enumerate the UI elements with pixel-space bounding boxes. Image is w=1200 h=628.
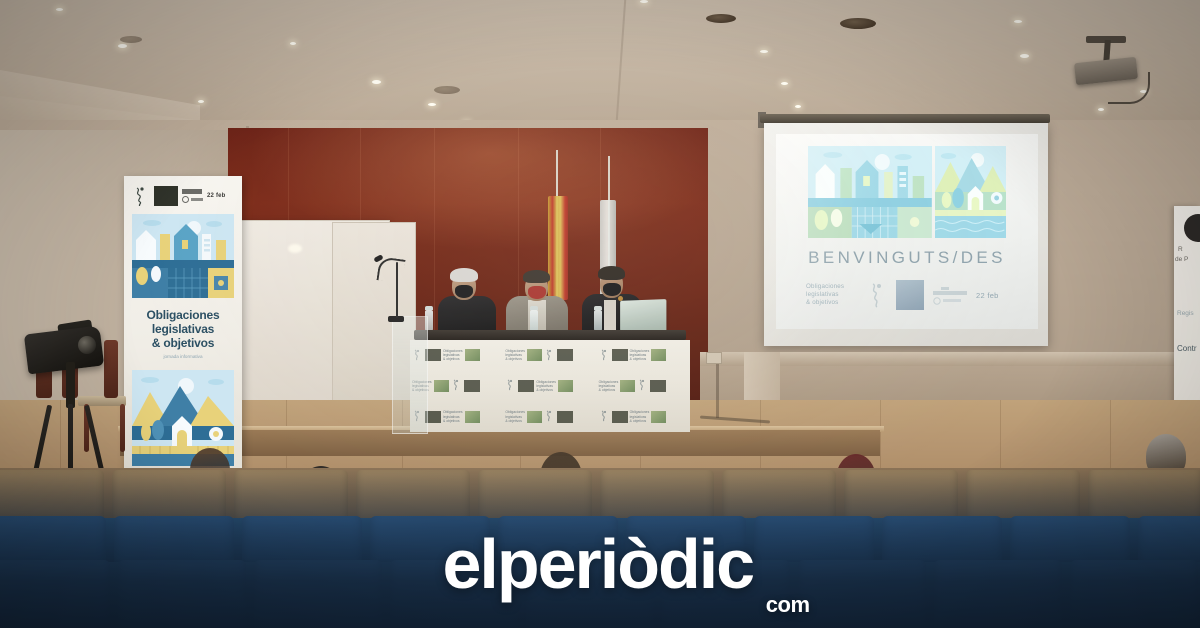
table-banner-tile: Obligacioneslegislativas& objetivos [503,401,596,432]
right-banner-line-3: Regis [1177,310,1194,317]
slide-illustration-mountains [935,146,1006,238]
ceiling-spotlight [760,50,768,53]
bottom-gradient-overlay [0,470,1200,628]
table-banner-text: Obligacioneslegislativas& objetivos [536,380,556,393]
dark-block-logo-icon [650,380,666,392]
bottle-cap [530,306,538,310]
ceiling-spotlight [1020,54,1029,58]
pae-squiggle-logo-icon [599,349,610,362]
bottle-cap [425,306,433,310]
table-banner-text: Obligacioneslegislativas& objetivos [505,410,525,423]
table-banner-text: Obligacioneslegislativas& objetivos [443,410,463,423]
slide-subtitle: Obligaciones legislativas & objetivos [806,283,860,307]
table-banner: Obligacioneslegislativas& objetivosOblig… [410,340,690,432]
photo-canvas: BENVINGUTS/DES Obligaciones legislativas… [0,0,1200,628]
slide-illustration-city [808,146,932,238]
face-mask-icon [603,283,621,296]
bottle-cap [594,306,602,310]
table-banner-text: Obligacioneslegislativas& objetivos [630,410,650,423]
rollup-illustration-top [132,214,234,298]
wall-socket-icon [706,352,722,364]
ceiling-vent-icon [706,14,736,23]
photo-tile [558,380,573,392]
slide-illustration [808,146,1006,238]
ceiling-vent-icon [120,36,142,43]
water-bottle [530,310,538,332]
table-banner-tile: Obligacioneslegislativas& objetivos [503,340,596,371]
photo-tile [434,380,449,392]
dark-block-logo-icon [896,280,924,310]
pae-squiggle-logo-icon [867,282,889,308]
lectern [392,316,428,434]
ceiling-spotlight [428,103,436,106]
pae-squiggle-logo-icon [544,410,555,423]
table-banner-text: Obligacioneslegislativas& objetivos [443,349,463,362]
ceiling-spotlight [118,44,127,48]
banner-circle-logo-icon [1184,214,1200,242]
wall-cable [716,360,719,418]
rollup-small-logos [182,189,203,203]
dark-block-logo-icon [464,380,480,392]
partition-light-reflection [288,244,302,253]
table-banner-text: Obligacioneslegislativas& objetivos [599,380,619,393]
bar-logo-icon [931,284,969,306]
ceiling-spotlight [781,82,788,85]
water-bottle [594,310,602,332]
slide-date: 22 feb [976,291,999,300]
right-banner-line-4: Contr [1177,344,1197,353]
laptop [620,299,666,333]
screen-roller-bar [760,114,1050,123]
ceiling-spotlight [290,42,296,45]
table-banner-text: Obligacioneslegislativas& objetivos [630,349,650,362]
photo-tile [527,349,542,361]
rollup-date: 22 feb [207,193,226,199]
ceiling-spotlight [640,0,648,3]
right-banner-line-2: de P [1175,256,1188,263]
pae-squiggle-logo-icon [637,379,648,392]
rollup-title: Obligaciones legislativas & objetivos [132,308,234,350]
photo-tile [465,349,480,361]
pae-squiggle-logo-icon [599,410,610,423]
ceiling-vent-icon [434,86,460,94]
face-mask-icon [528,286,546,299]
dark-block-logo-icon [557,349,573,361]
photo-tile [465,411,480,423]
dark-block-logo-icon [518,380,534,392]
photo-tile [527,411,542,423]
pae-squiggle-logo-icon [505,379,516,392]
projected-slide: BENVINGUTS/DES Obligaciones legislativas… [776,134,1038,329]
flag-spain [548,196,568,300]
dark-block-logo-icon [154,186,178,206]
table-banner-tile: Obligacioneslegislativas& objetivos [597,371,690,402]
slide-title: BENVINGUTS/DES [776,248,1038,268]
ceiling-spotlight [372,80,381,84]
photo-tile [620,380,635,392]
camera-lens-icon [78,336,96,354]
ceiling-vent-icon [840,18,876,29]
ceiling-spotlight [198,100,204,103]
dark-block-logo-icon [557,411,573,423]
ceiling-spotlight [56,8,63,11]
ceiling-spotlight [1014,20,1022,23]
pae-squiggle-logo-icon [451,379,462,392]
rollup-header-logos: 22 feb [132,184,234,208]
pae-squiggle-logo-icon [544,349,555,362]
photo-tile [651,411,666,423]
table-banner-tile: Obligacioneslegislativas& objetivos [503,371,596,402]
table-banner-tile: Obligacioneslegislativas& objetivos [597,340,690,371]
table-banner-tile: Obligacioneslegislativas& objetivos [597,401,690,432]
table-banner-text: Obligacioneslegislativas& objetivos [505,349,525,362]
rollup-subtitle: jornada informativa [132,354,234,360]
pae-squiggle-logo-icon [132,186,150,206]
ceiling-spotlight [795,105,801,108]
dark-block-logo-icon [612,349,628,361]
ceiling-spotlight [1098,108,1104,111]
slide-footer: Obligaciones legislativas & objetivos [806,280,1014,310]
dark-block-logo-icon [612,411,628,423]
face-mask-icon [455,285,473,298]
photo-tile [651,349,666,361]
right-banner-line-1: R [1178,246,1183,253]
head-table-top [414,330,686,340]
